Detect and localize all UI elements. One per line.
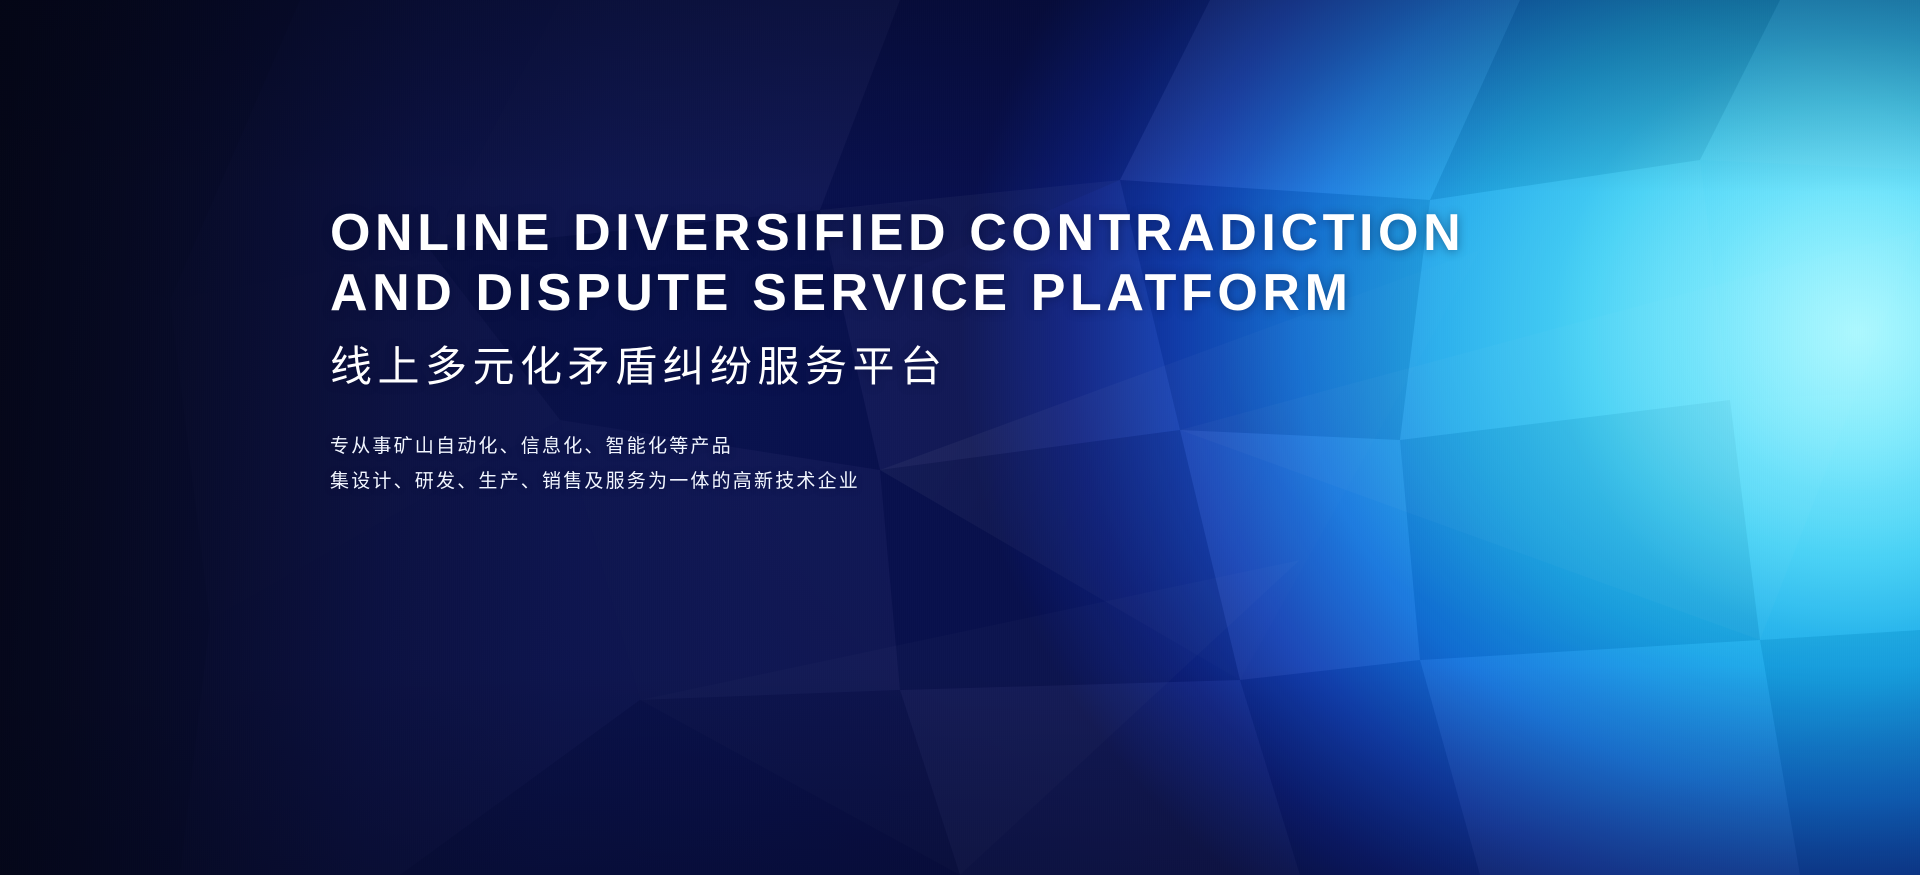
banner-content: ONLINE DIVERSIFIED CONTRADICTION AND DIS…: [330, 203, 1650, 499]
description-line-2: 集设计、研发、生产、销售及服务为一体的高新技术企业: [330, 464, 1650, 499]
description-line-1: 专从事矿山自动化、信息化、智能化等产品: [330, 429, 1650, 464]
subtitle-chinese: 线上多元化矛盾纠纷服务平台: [330, 341, 1650, 393]
headline-line-2: AND DISPUTE SERVICE PLATFORM: [330, 263, 1650, 323]
description-block: 专从事矿山自动化、信息化、智能化等产品 集设计、研发、生产、销售及服务为一体的高…: [330, 429, 1650, 499]
headline-line-1: ONLINE DIVERSIFIED CONTRADICTION: [330, 203, 1650, 263]
hero-banner: ONLINE DIVERSIFIED CONTRADICTION AND DIS…: [0, 0, 1920, 875]
